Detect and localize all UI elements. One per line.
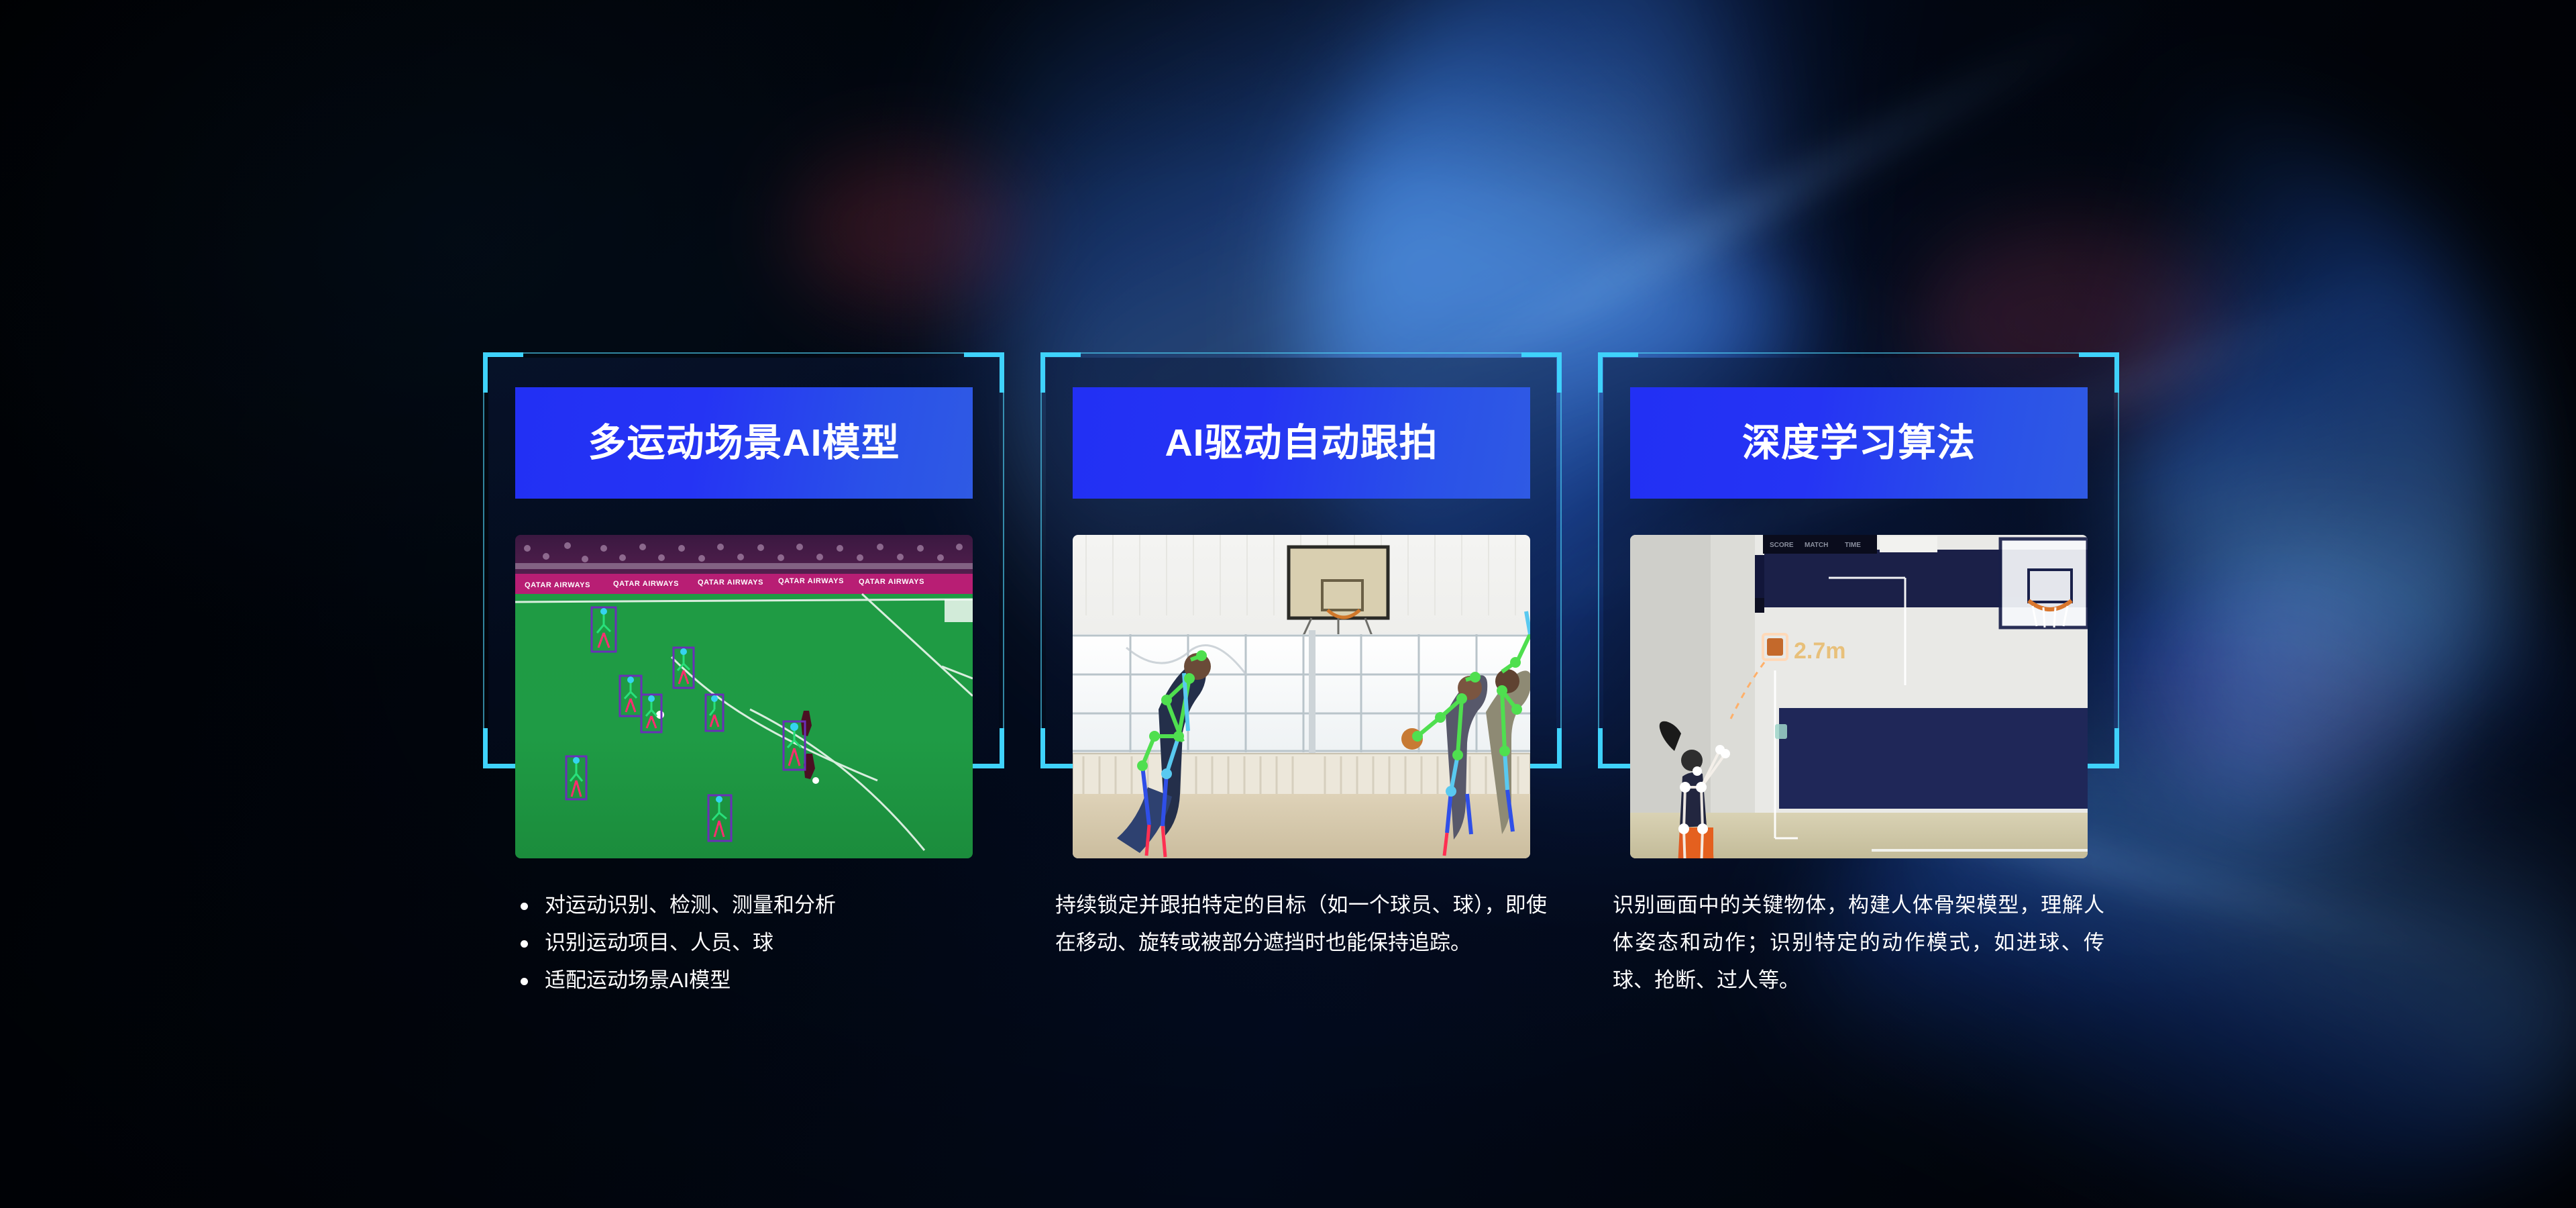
measurement-label: 2.7m	[1794, 638, 1846, 664]
card-body: 对运动识别、检测、测量和分析 识别运动项目、人员、球 适配运动场景AI模型	[511, 887, 981, 999]
basketball-pose-thumbnail	[1073, 535, 1530, 858]
feature-card-row: 多运动场景AI模型	[483, 352, 2120, 768]
shot-measurement-thumbnail: SCORE MATCH TIME	[1630, 535, 2088, 858]
frame-line-right	[1560, 352, 1562, 768]
list-item: 适配运动场景AI模型	[511, 962, 981, 999]
card-title-bar: 深度学习算法	[1630, 387, 2088, 499]
svg-text:QATAR AIRWAYS: QATAR AIRWAYS	[525, 581, 590, 589]
soccer-detection-thumbnail: QATAR AIRWAYS QATAR AIRWAYS QATAR AIRWAY…	[515, 535, 973, 858]
shot-measurement-illustration: SCORE MATCH TIME	[1630, 535, 2088, 858]
list-item: 对运动识别、检测、测量和分析	[511, 887, 981, 924]
svg-text:QATAR AIRWAYS: QATAR AIRWAYS	[859, 578, 924, 586]
feature-card-deep-learning-algorithm[interactable]: 深度学习算法	[1598, 352, 2119, 768]
svg-text:TIME: TIME	[1845, 542, 1861, 549]
card-title: AI驱动自动跟拍	[1165, 422, 1438, 464]
card-title-bar: 多运动场景AI模型	[515, 387, 973, 499]
svg-text:QATAR AIRWAYS: QATAR AIRWAYS	[613, 580, 679, 588]
feature-card-ai-auto-tracking[interactable]: AI驱动自动跟拍	[1040, 352, 1562, 768]
soccer-detection-illustration: QATAR AIRWAYS QATAR AIRWAYS QATAR AIRWAY…	[515, 535, 973, 858]
slide-canvas: 多运动场景AI模型	[0, 0, 2576, 1208]
card-title-bar: AI驱动自动跟拍	[1073, 387, 1530, 499]
frame-line-left	[1598, 352, 1599, 768]
feature-description: 识别画面中的关键物体，构建人体骨架模型，理解人体姿态和动作；识别特定的动作模式，…	[1613, 887, 2104, 999]
feature-description: 持续锁定并跟拍特定的目标（如一个球员、球），即使在移动、旋转或被部分遮挡时也能保…	[1055, 887, 1547, 962]
svg-text:SCORE: SCORE	[1770, 542, 1794, 549]
feature-card-multi-sport-ai-model[interactable]: 多运动场景AI模型	[483, 352, 1004, 768]
card-body: 识别画面中的关键物体，构建人体骨架模型，理解人体姿态和动作；识别特定的动作模式，…	[1613, 887, 2104, 999]
background-ember-left	[792, 148, 1020, 309]
background-ember-bottom	[2133, 604, 2415, 792]
frame-line-top	[1598, 352, 2119, 354]
svg-text:QATAR AIRWAYS: QATAR AIRWAYS	[698, 578, 763, 587]
list-item: 识别运动项目、人员、球	[511, 924, 981, 962]
frame-line-left	[1040, 352, 1042, 768]
card-title: 深度学习算法	[1742, 422, 1976, 464]
card-body: 持续锁定并跟拍特定的目标（如一个球员、球），即使在移动、旋转或被部分遮挡时也能保…	[1055, 887, 1547, 962]
frame-line-top	[1040, 352, 1562, 354]
frame-line-top	[483, 352, 1004, 354]
svg-text:QATAR AIRWAYS: QATAR AIRWAYS	[778, 577, 844, 585]
basketball-pose-illustration	[1073, 535, 1530, 858]
frame-line-right	[1003, 352, 1004, 768]
card-title: 多运动场景AI模型	[588, 422, 900, 464]
svg-text:MATCH: MATCH	[1805, 542, 1828, 549]
frame-line-right	[2118, 352, 2119, 768]
feature-bullet-list: 对运动识别、检测、测量和分析 识别运动项目、人员、球 适配运动场景AI模型	[511, 887, 981, 999]
frame-line-left	[483, 352, 484, 768]
